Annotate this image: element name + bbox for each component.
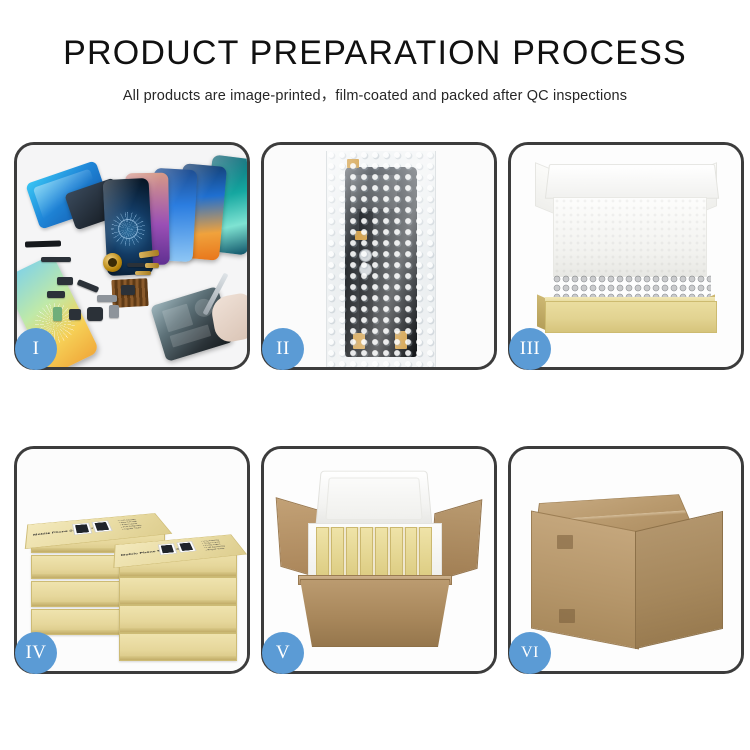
header: PRODUCT PREPARATION PROCESS All products… bbox=[0, 0, 750, 105]
step-panel-5: V bbox=[261, 446, 497, 674]
spare-part-flex-4 bbox=[47, 291, 65, 298]
phone-screen-fan bbox=[99, 157, 247, 269]
stacked-box-f4 bbox=[119, 633, 237, 661]
step-3-image bbox=[511, 145, 741, 367]
step-5-image bbox=[264, 449, 494, 671]
bubble-wrap-bag bbox=[326, 151, 436, 367]
step-badge-1: I bbox=[15, 328, 57, 370]
step-badge-2: II bbox=[262, 328, 304, 370]
box-label-list-upper: • LCD Display• Touch Panel• Front Glass•… bbox=[117, 518, 143, 531]
yellow-box bbox=[419, 527, 432, 577]
process-steps-grid: I II bbox=[14, 142, 736, 674]
box-lid-back bbox=[545, 164, 719, 199]
box-label-phone-image-2 bbox=[91, 521, 112, 533]
box-label-phone-image-4 bbox=[176, 541, 196, 552]
step-6-image bbox=[511, 449, 741, 671]
yellow-box bbox=[405, 527, 418, 577]
spare-part-grey-2 bbox=[109, 305, 119, 318]
yellow-box bbox=[375, 527, 388, 577]
step-1-image bbox=[17, 145, 247, 367]
spare-part-gold-3 bbox=[135, 271, 151, 275]
crack-pattern-icon bbox=[110, 211, 146, 247]
yellow-boxes-group bbox=[316, 527, 432, 577]
carton-body bbox=[300, 579, 450, 647]
spare-part-flex-2 bbox=[77, 279, 100, 293]
box-label-phone-image-3 bbox=[158, 543, 178, 555]
step-panel-6: VI bbox=[508, 446, 744, 674]
screen-strip bbox=[25, 240, 61, 247]
step-badge-3: III bbox=[509, 328, 551, 370]
spare-part-gold-2 bbox=[145, 263, 159, 268]
foam-sheet bbox=[553, 197, 707, 277]
spare-part-grey-1 bbox=[97, 295, 117, 302]
spare-part-strip-1 bbox=[41, 257, 71, 262]
box-label-list-lower: • LCD Display• Touch Panel• Front Glass•… bbox=[201, 539, 228, 552]
spare-part-speaker bbox=[87, 307, 103, 321]
page-subtitle: All products are image-printed，film-coat… bbox=[0, 84, 750, 105]
product-preparation-infographic: PRODUCT PREPARATION PROCESS All products… bbox=[0, 0, 750, 750]
spare-part-flex-1 bbox=[127, 263, 145, 267]
box-stack: Mobile Phone Spare Parts • LCD Display• … bbox=[23, 463, 245, 663]
yellow-box bbox=[360, 527, 373, 577]
yellow-box bbox=[331, 527, 344, 577]
spare-part-flex-3 bbox=[57, 277, 73, 285]
step-panel-4: Mobile Phone Spare Parts • LCD Display• … bbox=[14, 446, 250, 674]
step-badge-5: V bbox=[262, 632, 304, 674]
spare-part-battery bbox=[53, 307, 62, 321]
copper-coil-part bbox=[103, 253, 122, 272]
stacked-box-f3 bbox=[119, 605, 237, 633]
spare-part-flex-6 bbox=[69, 309, 81, 320]
step-panel-3: III bbox=[508, 142, 744, 370]
page-title: PRODUCT PREPARATION PROCESS bbox=[0, 36, 750, 70]
step-badge-4: IV bbox=[15, 632, 57, 674]
step-panel-2: II bbox=[261, 142, 497, 370]
step-badge-6: VI bbox=[509, 632, 551, 674]
step-panel-1: I bbox=[14, 142, 250, 370]
box-front-panel bbox=[545, 301, 717, 333]
carton-side-face bbox=[635, 511, 723, 649]
step-2-image bbox=[264, 145, 494, 367]
tape-patch-bottom bbox=[559, 609, 575, 623]
yellow-box bbox=[346, 527, 359, 577]
tape-patch-top bbox=[557, 535, 573, 549]
spare-part-flex-5 bbox=[121, 285, 135, 295]
foam-lid bbox=[315, 471, 433, 530]
step-4-image: Mobile Phone Spare Parts • LCD Display• … bbox=[17, 449, 247, 671]
yellow-box bbox=[316, 527, 329, 577]
stacked-box-f2 bbox=[119, 577, 237, 605]
carton-front-face bbox=[531, 511, 639, 650]
box-label-phone-image-1 bbox=[72, 523, 92, 535]
plastic-sheen bbox=[327, 151, 435, 367]
yellow-box bbox=[390, 527, 403, 577]
